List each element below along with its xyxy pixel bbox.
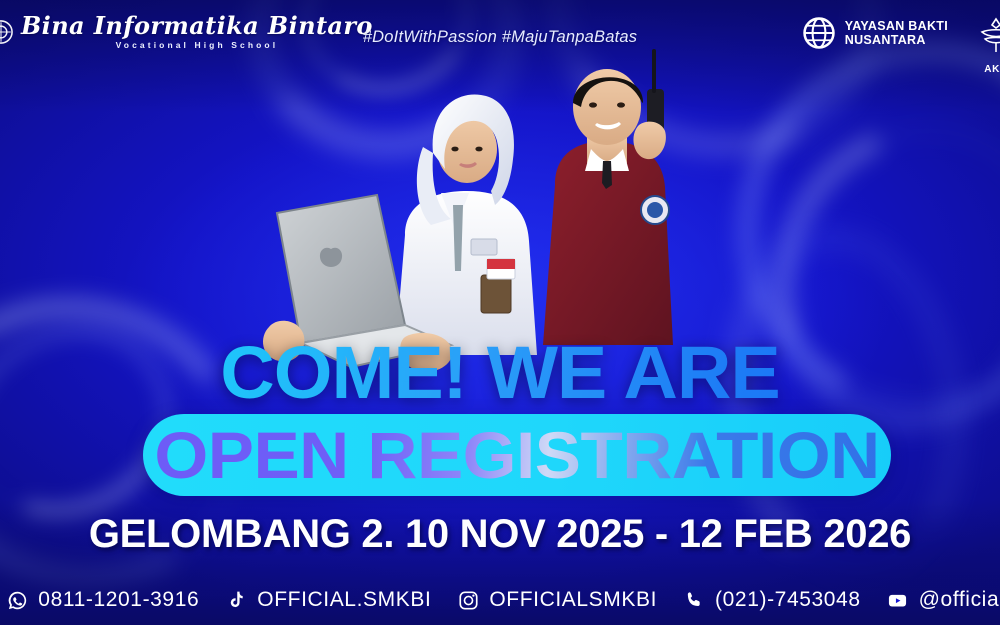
banner-header: Bina Informatika Bintaro Vocational High…	[0, 0, 1000, 72]
school-brand: Bina Informatika Bintaro Vocational High…	[2, 14, 373, 50]
partner-name-yayasan: YAYASAN BAKTI NUSANTARA	[845, 19, 948, 47]
contact-tiktok[interactable]: OFFICIAL.SMKBI	[225, 588, 431, 612]
school-brand-text: Bina Informatika Bintaro Vocational High…	[21, 14, 373, 50]
partner-logo-akr: AKR	[970, 16, 1000, 75]
registration-dateline: GELOMBANG 2. 10 NOV 2025 - 12 FEB 2026	[0, 512, 1000, 557]
phone-icon	[683, 589, 705, 611]
tagline-hashtags: #DoItWithPassion #MajuTanpaBatas	[363, 28, 637, 47]
school-name: Bina Informatika Bintaro	[21, 14, 373, 38]
contact-whatsapp[interactable]: 0811-1201-3916	[6, 588, 199, 612]
globe-icon	[802, 16, 836, 50]
contact-instagram[interactable]: OFFICIALSMKBI	[457, 588, 657, 612]
contact-phone-label: (021)-7453048	[715, 588, 861, 612]
instagram-icon	[457, 589, 479, 611]
contact-youtube[interactable]: @officialsm	[887, 588, 1000, 612]
tiktok-icon	[225, 589, 247, 611]
school-subtitle: Vocational High School	[21, 41, 373, 50]
students-photo	[255, 45, 735, 375]
partner-logo-yayasan-bakti-nusantara: YAYASAN BAKTI NUSANTARA	[802, 16, 948, 50]
contact-instagram-label: OFFICIALSMKBI	[489, 588, 657, 612]
partner-name-line2: NUSANTARA	[845, 33, 948, 47]
akr-eagle-icon	[976, 16, 1000, 58]
headline-wrap: COME! WE ARE	[0, 336, 1000, 410]
open-registration-text: OPEN REGISTRATION	[124, 414, 909, 496]
headline: COME! WE ARE	[0, 336, 1000, 410]
whatsapp-icon	[6, 589, 28, 611]
partner-name-line1: YAYASAN BAKTI	[845, 19, 948, 33]
partner-logos: YAYASAN BAKTI NUSANTARA AKR	[802, 16, 1000, 75]
youtube-icon	[887, 589, 909, 611]
promo-banner: Bina Informatika Bintaro Vocational High…	[0, 0, 1000, 625]
contact-tiktok-label: OFFICIAL.SMKBI	[257, 588, 431, 612]
contact-youtube-label: @officialsm	[919, 588, 1000, 612]
open-registration-pill: OPEN REGISTRATION	[143, 414, 891, 496]
contact-whatsapp-label: 0811-1201-3916	[38, 588, 199, 612]
students-illustration	[255, 45, 735, 375]
school-crest-icon	[0, 19, 14, 45]
male-student-with-walkie-talkie	[543, 49, 673, 345]
partner-label-akr: AKR	[970, 64, 1000, 75]
contact-phone[interactable]: (021)-7453048	[683, 588, 861, 612]
contact-footer: 0811-1201-3916 OFFICIAL.SMKBI OFFICIALSM…	[0, 575, 1000, 625]
